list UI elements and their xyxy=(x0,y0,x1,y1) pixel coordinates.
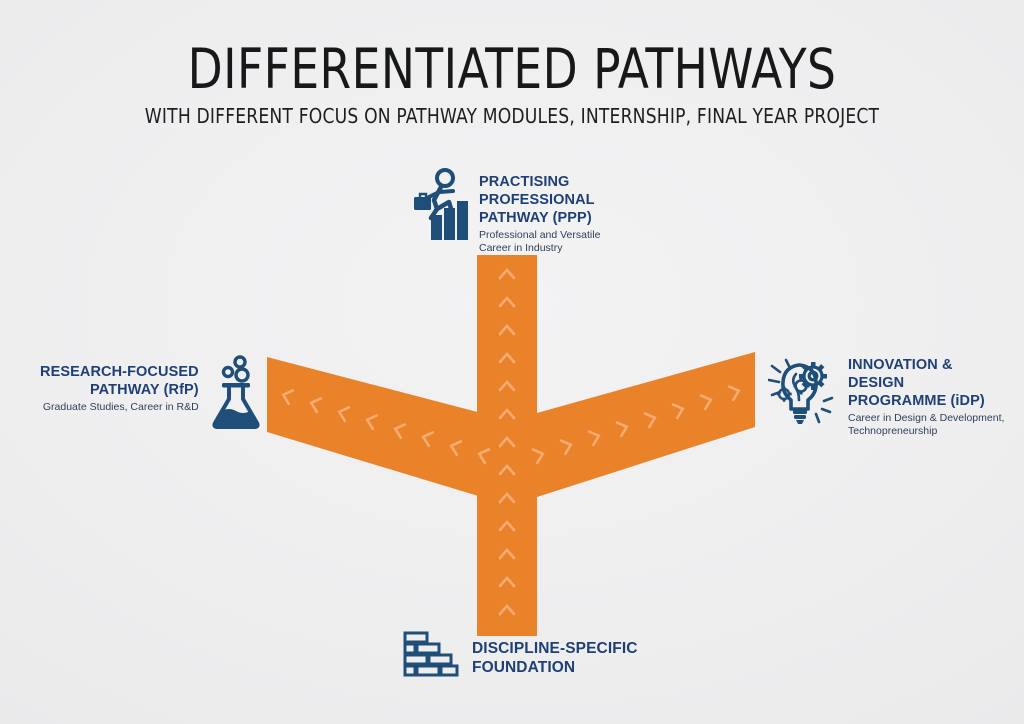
pathway-label-text-ppp: PRACTISING PROFESSIONAL PATHWAY (PPP) Pr… xyxy=(479,173,600,254)
flask-icon xyxy=(209,355,265,436)
pathway-heading-ppp: PRACTISING PROFESSIONAL PATHWAY (PPP) xyxy=(479,174,595,226)
pathway-label-rfp[interactable]: RESEARCH-FOCUSED PATHWAY (RfP) Graduate … xyxy=(40,355,265,436)
pathway-label-idp[interactable]: INNOVATION & DESIGN PROGRAMME (iDP) Care… xyxy=(768,352,1004,437)
lightbulb-gears-icon xyxy=(768,352,838,433)
pathway-label-foundation[interactable]: DISCIPLINE-SPECIFIC FOUNDATION xyxy=(400,630,638,685)
pathway-heading-rfp: RESEARCH-FOCUSED PATHWAY (RfP) xyxy=(40,364,199,398)
pathway-label-text-foundation: DISCIPLINE-SPECIFIC FOUNDATION xyxy=(472,639,638,677)
pathway-heading-foundation: DISCIPLINE-SPECIFIC FOUNDATION xyxy=(472,640,638,676)
pathway-sub-ppp: Professional and Versatile Career in Ind… xyxy=(479,229,600,254)
left-branch-arm xyxy=(267,357,508,505)
pathway-label-text-idp: INNOVATION & DESIGN PROGRAMME (iDP) Care… xyxy=(848,356,1004,437)
brick-wall-icon xyxy=(400,630,462,685)
right-branch-arm xyxy=(512,352,755,505)
pathway-heading-idp: INNOVATION & DESIGN PROGRAMME (iDP) xyxy=(848,357,985,409)
pathway-sub-idp: Career in Design & Development, Technopr… xyxy=(848,412,1004,437)
infographic-canvas: DIFFERENTIATED PATHWAYS WITH DIFFERENT F… xyxy=(0,0,1024,724)
pathway-label-ppp[interactable]: PRACTISING PROFESSIONAL PATHWAY (PPP) Pr… xyxy=(411,168,600,254)
pathway-sub-rfp: Graduate Studies, Career in R&D xyxy=(40,401,199,414)
pathway-label-text-rfp: RESEARCH-FOCUSED PATHWAY (RfP) Graduate … xyxy=(40,363,199,414)
person-climbing-bars-icon xyxy=(411,168,469,249)
